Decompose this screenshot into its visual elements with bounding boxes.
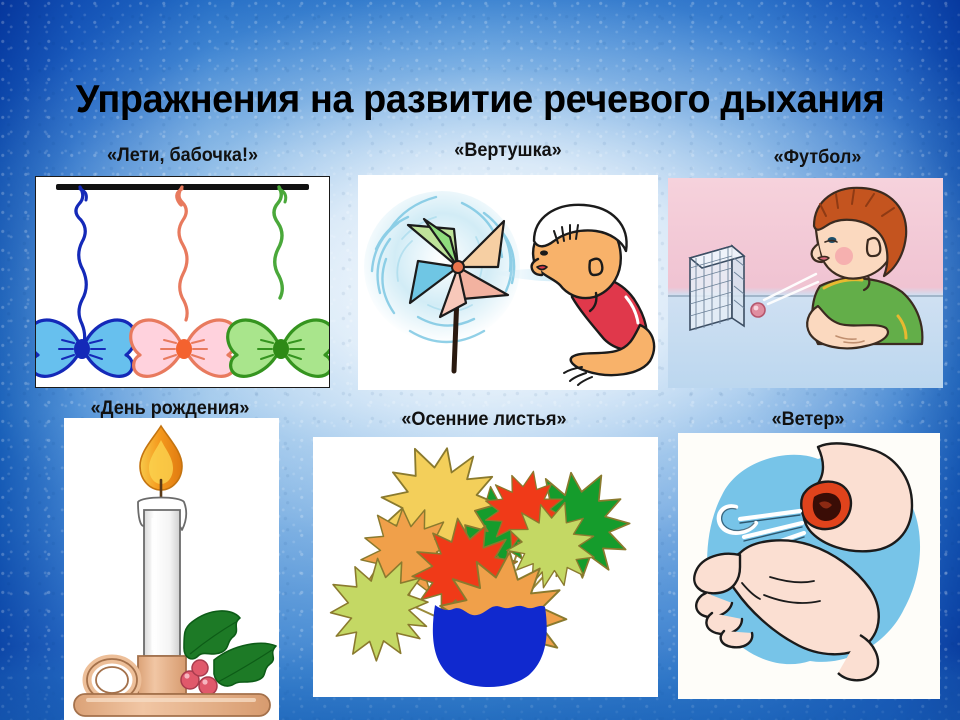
caption-football: «Футбол» — [696, 147, 938, 169]
candle-base — [74, 694, 270, 716]
card-pinwheel[interactable] — [358, 175, 658, 390]
caption-wind: «Ветер» — [685, 409, 932, 431]
candle-holder — [138, 656, 186, 694]
slide-canvas: Упражнения на развитие речевого дыхания … — [0, 0, 960, 720]
card-leaves[interactable] — [313, 437, 658, 697]
card-birthday[interactable] — [64, 418, 279, 720]
caption-birthday: «День рождения» — [51, 398, 289, 420]
page-title: Упражнения на развитие речевого дыхания — [14, 78, 945, 122]
card-butterfly[interactable] — [35, 176, 330, 388]
candle-body — [144, 510, 180, 656]
goal-net — [690, 246, 744, 330]
wind-illustration — [678, 433, 940, 699]
pinwheel-illustration — [358, 175, 658, 390]
caption-leaves: «Осенние листья» — [322, 409, 647, 431]
ball — [751, 303, 765, 317]
candle-illustration — [64, 418, 279, 720]
caption-pinwheel: «Вертушка» — [366, 140, 651, 162]
caption-butterfly: «Лети, бабочка!» — [42, 145, 322, 167]
football-illustration — [668, 178, 943, 388]
card-wind[interactable] — [678, 433, 940, 699]
leaves-illustration — [313, 437, 658, 697]
card-football[interactable] — [668, 178, 943, 388]
butterflies-illustration — [36, 177, 329, 387]
